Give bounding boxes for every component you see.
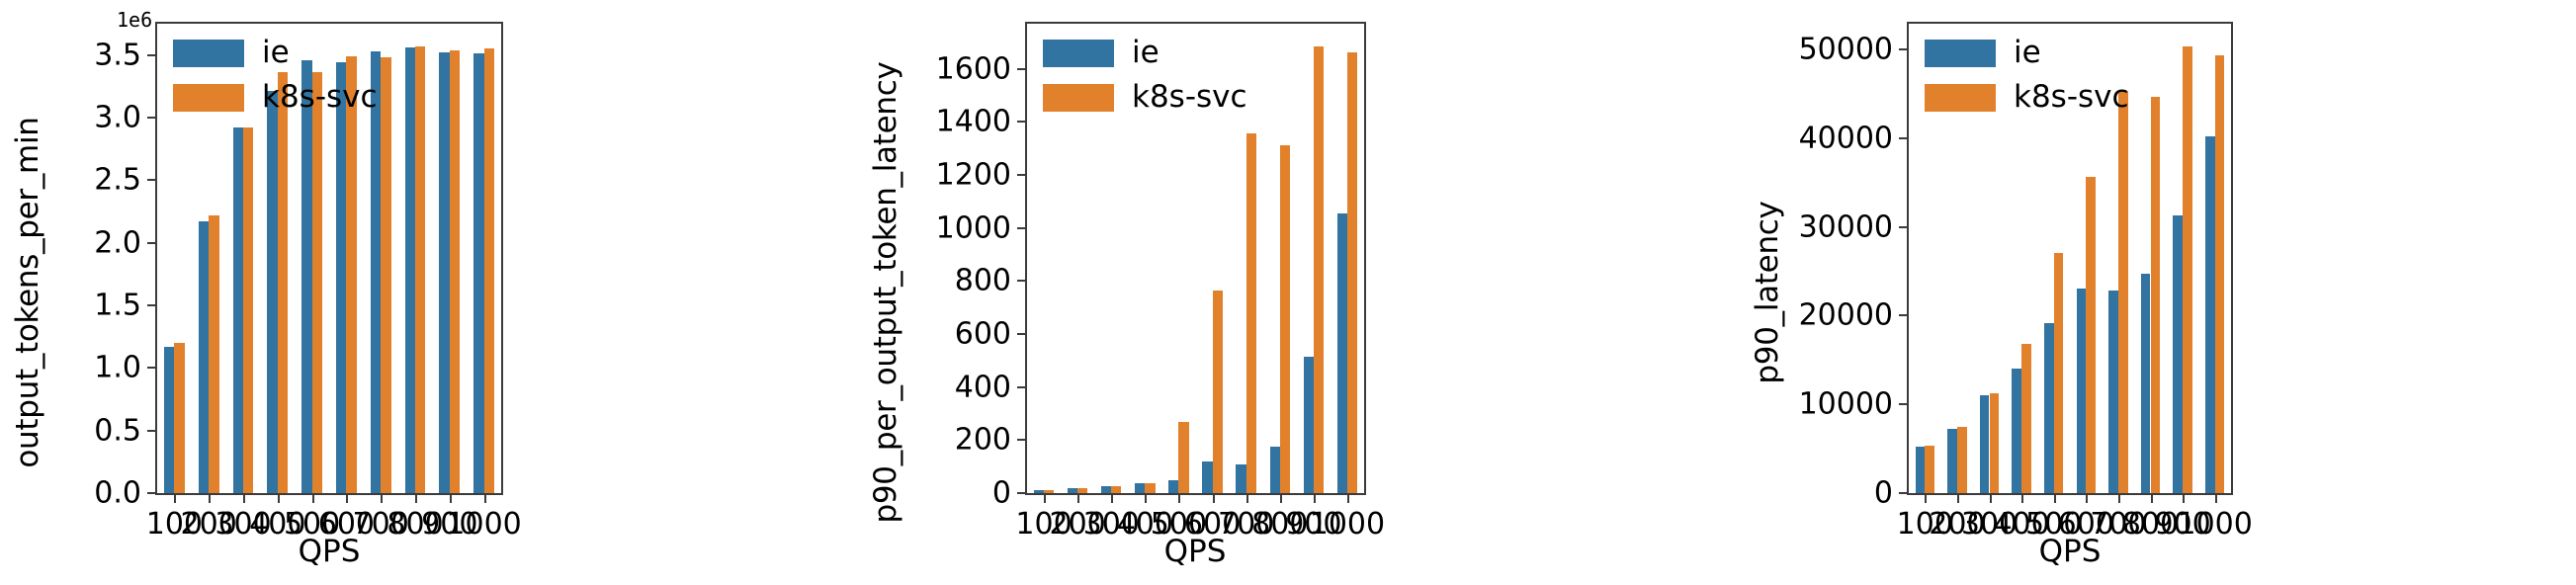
y-tick-label: 1200 — [936, 157, 1011, 192]
bar-ie-300 — [233, 127, 243, 493]
bar-ie-900 — [2173, 215, 2183, 493]
x-tick-mark — [2215, 495, 2217, 503]
legend-swatch — [1925, 84, 1996, 112]
x-tick-mark — [381, 495, 383, 503]
bar-ie-1000 — [1337, 213, 1347, 493]
y-tick-label: 0 — [1874, 476, 1893, 511]
bar-ie-400 — [267, 91, 277, 493]
bar-ie-1000 — [473, 53, 483, 493]
legend-item-k8s-svc: k8s-svc — [1043, 82, 1247, 113]
x-tick-mark — [2054, 495, 2056, 503]
bar-ie-200 — [199, 221, 209, 493]
x-tick-mark — [312, 495, 314, 503]
legend-label: k8s-svc — [262, 82, 378, 113]
bar-ie-100 — [1916, 447, 1926, 493]
y-tick-label: 1.0 — [94, 351, 141, 385]
bar-k8s-svc-1000 — [484, 48, 494, 493]
x-tick-mark — [1044, 495, 1046, 503]
y-tick-mark — [1899, 48, 1907, 50]
y-tick-mark — [1017, 121, 1025, 123]
bar-k8s-svc-900 — [2183, 46, 2192, 493]
y-tick-label: 40000 — [1799, 121, 1893, 155]
bar-ie-300 — [1980, 395, 1990, 493]
bar-ie-800 — [405, 47, 415, 493]
x-tick-mark — [1314, 495, 1316, 503]
x-tick-mark — [1111, 495, 1113, 503]
chart-panel-3: p90_latency01000020000300004000050000100… — [1716, 0, 2574, 585]
x-tick-mark — [1990, 495, 1992, 503]
x-tick-label: 1000 — [445, 507, 524, 542]
x-tick-label: 1000 — [1308, 507, 1387, 542]
y-tick-label: 3.5 — [94, 38, 141, 72]
x-tick-mark — [1957, 495, 1959, 503]
y-tick-mark — [1899, 226, 1907, 228]
y-tick-label: 400 — [955, 370, 1011, 404]
y-tick-label: 800 — [955, 264, 1011, 298]
bar-k8s-svc-100 — [1925, 446, 1934, 493]
x-axis-label: QPS — [1991, 534, 2149, 569]
bar-k8s-svc-600 — [346, 56, 356, 493]
bar-k8s-svc-500 — [2054, 253, 2064, 493]
bar-k8s-svc-700 — [2118, 91, 2128, 493]
y-tick-mark — [1017, 227, 1025, 229]
legend-item-k8s-svc: k8s-svc — [1925, 82, 2129, 113]
y-tick-label: 2.0 — [94, 225, 141, 260]
legend: iek8s-svc — [1043, 38, 1247, 113]
y-tick-mark — [1017, 174, 1025, 176]
legend-label: ie — [262, 38, 290, 68]
bar-k8s-svc-600 — [1213, 291, 1223, 493]
y-axis-label: p90_latency — [1750, 201, 1785, 383]
legend-item-ie: ie — [1925, 38, 2129, 68]
legend-swatch — [1043, 40, 1114, 67]
y-tick-label: 3.0 — [94, 101, 141, 135]
bar-k8s-svc-1000 — [2215, 55, 2225, 493]
bar-ie-100 — [164, 347, 174, 493]
x-axis-label: QPS — [1116, 534, 1274, 569]
x-tick-mark — [1077, 495, 1079, 503]
bar-ie-500 — [2044, 323, 2054, 493]
y-tick-mark — [147, 179, 155, 181]
bar-ie-600 — [2077, 289, 2087, 493]
y-tick-mark — [1017, 333, 1025, 335]
bar-ie-700 — [371, 51, 381, 493]
bar-k8s-svc-800 — [415, 46, 425, 493]
bar-k8s-svc-300 — [1111, 486, 1121, 493]
y-tick-mark — [147, 367, 155, 369]
y-tick-mark — [1017, 492, 1025, 494]
bar-k8s-svc-700 — [1246, 133, 1256, 493]
y-tick-mark — [1017, 68, 1025, 70]
bar-k8s-svc-400 — [278, 72, 288, 493]
bar-k8s-svc-500 — [1178, 422, 1188, 493]
y-tick-label: 200 — [955, 423, 1011, 458]
bar-ie-800 — [1270, 447, 1280, 494]
bar-ie-900 — [1304, 357, 1314, 493]
x-axis-label: QPS — [250, 534, 408, 569]
bar-ie-500 — [1168, 480, 1178, 493]
bar-k8s-svc-200 — [1077, 488, 1087, 493]
y-tick-mark — [147, 430, 155, 432]
x-tick-label: 1000 — [2176, 507, 2255, 542]
x-tick-mark — [1246, 495, 1248, 503]
y-tick-mark — [1899, 314, 1907, 316]
bar-k8s-svc-300 — [1990, 393, 2000, 493]
bar-k8s-svc-900 — [1314, 46, 1324, 493]
x-tick-mark — [2151, 495, 2153, 503]
y-axis-label: p90_per_output_token_latency — [868, 61, 903, 523]
bar-ie-900 — [439, 52, 449, 493]
y-tick-mark — [1899, 403, 1907, 405]
y-tick-label: 1000 — [936, 210, 1011, 245]
y-tick-mark — [1017, 280, 1025, 282]
y-tick-label: 10000 — [1799, 387, 1893, 422]
y-tick-label: 0.0 — [94, 476, 141, 511]
x-tick-mark — [2183, 495, 2185, 503]
y-tick-label: 1600 — [936, 51, 1011, 86]
bar-ie-600 — [336, 62, 346, 493]
y-tick-mark — [147, 242, 155, 244]
bar-k8s-svc-500 — [312, 72, 322, 493]
legend-swatch — [173, 84, 244, 112]
legend-item-ie: ie — [1043, 38, 1247, 68]
x-tick-mark — [174, 495, 176, 503]
bar-ie-300 — [1101, 486, 1111, 493]
x-tick-mark — [1347, 495, 1349, 503]
x-tick-mark — [243, 495, 245, 503]
y-tick-label: 1.5 — [94, 289, 141, 323]
x-tick-mark — [2118, 495, 2120, 503]
bar-ie-800 — [2141, 274, 2151, 493]
y-tick-mark — [1899, 492, 1907, 494]
bar-k8s-svc-800 — [1280, 145, 1290, 493]
y-tick-mark — [147, 117, 155, 119]
bar-k8s-svc-300 — [243, 127, 253, 493]
y-tick-label: 600 — [955, 316, 1011, 351]
bar-k8s-svc-100 — [174, 343, 184, 493]
legend-label: ie — [2014, 38, 2041, 68]
x-tick-mark — [1925, 495, 1927, 503]
x-tick-mark — [1178, 495, 1180, 503]
bar-ie-600 — [1202, 461, 1212, 493]
figure-three-panel-bar-charts: output_tokens_per_min1e60.00.51.01.52.02… — [0, 0, 2576, 585]
legend: iek8s-svc — [1925, 38, 2129, 113]
y-tick-mark — [1899, 137, 1907, 139]
chart-panel-1: output_tokens_per_min1e60.00.51.01.52.02… — [0, 0, 858, 585]
bar-k8s-svc-200 — [1957, 427, 1967, 493]
bar-k8s-svc-100 — [1044, 490, 1054, 493]
x-tick-mark — [2021, 495, 2023, 503]
x-tick-mark — [1145, 495, 1147, 503]
y-tick-label: 0 — [992, 476, 1011, 511]
y-tick-mark — [147, 304, 155, 306]
x-tick-mark — [415, 495, 417, 503]
bar-k8s-svc-400 — [2021, 344, 2031, 493]
chart-panel-2: p90_per_output_token_latency020040060080… — [858, 0, 1716, 585]
bar-ie-200 — [1947, 429, 1957, 493]
y-tick-label: 2.5 — [94, 163, 141, 198]
x-tick-mark — [1213, 495, 1215, 503]
bar-k8s-svc-400 — [1145, 483, 1155, 493]
legend-swatch — [1043, 84, 1114, 112]
legend-label: k8s-svc — [1132, 82, 1247, 113]
legend-swatch — [1925, 40, 1996, 67]
bar-k8s-svc-200 — [209, 215, 218, 493]
x-tick-mark — [1280, 495, 1282, 503]
bar-ie-700 — [1236, 464, 1245, 493]
y-tick-mark — [147, 492, 155, 494]
bar-ie-700 — [2108, 291, 2118, 493]
bar-k8s-svc-900 — [450, 50, 460, 493]
legend: iek8s-svc — [173, 38, 378, 113]
y-axis-label: output_tokens_per_min — [10, 117, 45, 467]
bar-ie-400 — [2012, 369, 2021, 493]
bar-k8s-svc-1000 — [1347, 52, 1357, 493]
legend-item-k8s-svc: k8s-svc — [173, 82, 378, 113]
x-tick-mark — [346, 495, 348, 503]
y-tick-label: 0.5 — [94, 413, 141, 448]
bar-ie-1000 — [2205, 136, 2215, 493]
y-axis-offset-text: 1e6 — [117, 8, 152, 32]
x-tick-mark — [450, 495, 452, 503]
y-tick-mark — [147, 54, 155, 56]
y-tick-label: 50000 — [1799, 33, 1893, 67]
legend-swatch — [173, 40, 244, 67]
bar-ie-200 — [1068, 488, 1077, 493]
bar-k8s-svc-600 — [2086, 177, 2096, 493]
y-tick-label: 20000 — [1799, 298, 1893, 333]
bar-ie-400 — [1135, 483, 1145, 493]
legend-label: k8s-svc — [2014, 82, 2129, 113]
y-tick-mark — [1017, 439, 1025, 441]
y-tick-label: 1400 — [936, 105, 1011, 139]
x-tick-mark — [2086, 495, 2088, 503]
x-tick-mark — [278, 495, 280, 503]
y-tick-label: 30000 — [1799, 209, 1893, 244]
x-tick-mark — [484, 495, 486, 503]
bar-ie-100 — [1034, 490, 1044, 493]
legend-item-ie: ie — [173, 38, 378, 68]
bar-k8s-svc-700 — [381, 57, 390, 493]
legend-label: ie — [1132, 38, 1159, 68]
x-tick-mark — [209, 495, 211, 503]
y-tick-mark — [1017, 386, 1025, 388]
bar-ie-500 — [301, 60, 311, 493]
bar-k8s-svc-800 — [2151, 97, 2161, 493]
